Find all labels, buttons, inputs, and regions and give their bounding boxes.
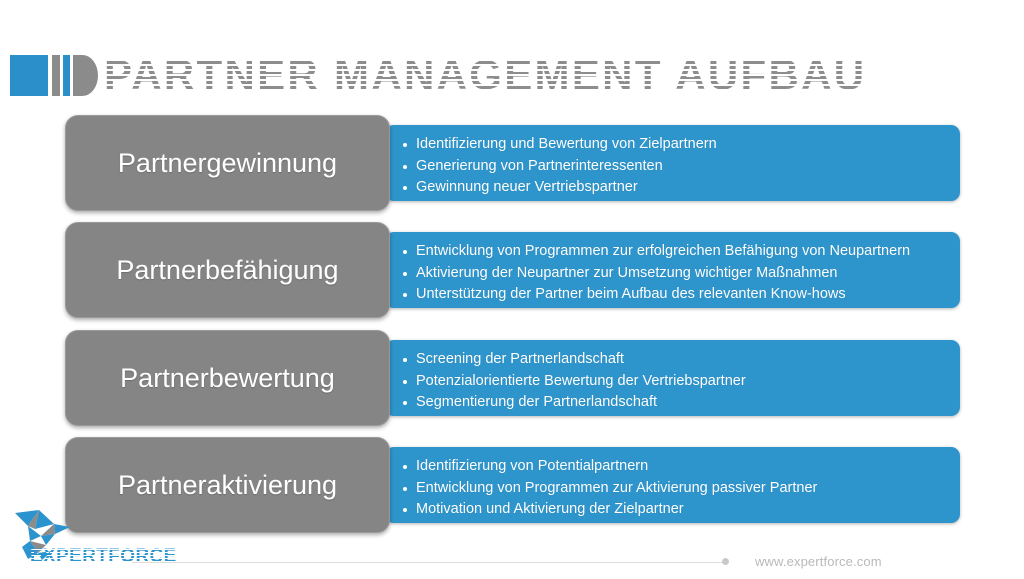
list-item: Aktivierung der Neupartner zur Umsetzung… <box>399 263 946 285</box>
list-item: Screening der Partnerlandschaft <box>399 349 946 371</box>
list-item: Gewinnung neuer Vertriebspartner <box>399 177 946 199</box>
list-item: Entwicklung von Programmen zur Aktivieru… <box>399 478 946 500</box>
row-2-bullets-panel: Entwicklung von Programmen zur erfolgrei… <box>385 232 960 308</box>
process-rows: Identifizierung und Bewertung von Zielpa… <box>0 0 1024 579</box>
list-item: Generierung von Partnerinteressenten <box>399 156 946 178</box>
row-2-bullet-list: Entwicklung von Programmen zur erfolgrei… <box>399 241 946 306</box>
row-2-label-text: Partnerbefähigung <box>116 254 338 286</box>
row-1-label-text: Partnergewinnung <box>118 147 337 179</box>
row-2-label-box[interactable]: Partnerbefähigung <box>65 222 390 318</box>
list-item: Identifizierung von Potentialpartnern <box>399 456 946 478</box>
row-3-bullet-list: Screening der Partnerlandschaft Potenzia… <box>399 349 946 414</box>
footer-divider-dot <box>722 558 729 565</box>
row-4-label-text: Partneraktivierung <box>118 469 337 501</box>
footer-divider-line <box>132 562 724 563</box>
process-row-1: Identifizierung und Bewertung von Zielpa… <box>0 115 1024 211</box>
row-3-label-text: Partnerbewertung <box>120 362 335 394</box>
slide-canvas: PARTNER MANAGEMENT AUFBAU Identifizierun… <box>0 0 1024 579</box>
row-3-bullets-panel: Screening der Partnerlandschaft Potenzia… <box>385 340 960 416</box>
footer-url[interactable]: www.expertforce.com <box>755 553 882 570</box>
list-item: Identifizierung und Bewertung von Zielpa… <box>399 134 946 156</box>
row-3-label-box[interactable]: Partnerbewertung <box>65 330 390 426</box>
list-item: Potenzialorientierte Bewertung der Vertr… <box>399 371 946 393</box>
row-1-bullets-panel: Identifizierung und Bewertung von Zielpa… <box>385 125 960 201</box>
row-1-bullet-list: Identifizierung und Bewertung von Zielpa… <box>399 134 946 199</box>
process-row-2: Entwicklung von Programmen zur erfolgrei… <box>0 222 1024 318</box>
list-item: Segmentierung der Partnerlandschaft <box>399 392 946 414</box>
process-row-3: Screening der Partnerlandschaft Potenzia… <box>0 330 1024 426</box>
list-item: Unterstützung der Partner beim Aufbau de… <box>399 284 946 306</box>
list-item: Entwicklung von Programmen zur erfolgrei… <box>399 241 946 263</box>
row-1-label-box[interactable]: Partnergewinnung <box>65 115 390 211</box>
footer-wordmark: EXPERTFORCE <box>30 546 177 568</box>
